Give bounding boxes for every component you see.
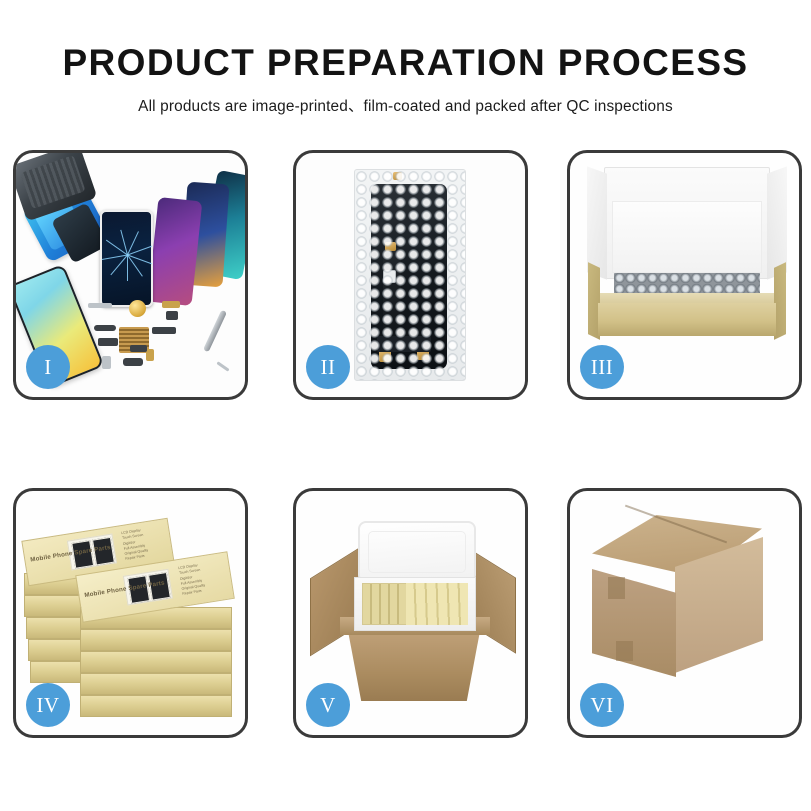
- phone-purple-icon: [148, 197, 203, 306]
- step-badge-2: II: [306, 345, 350, 389]
- part-connector-icon: [166, 311, 178, 320]
- process-step-4: Mobile Phone Spare Parts LCD Display Tou…: [13, 488, 248, 738]
- part-button-icon: [123, 358, 143, 366]
- stack-front-4: [80, 673, 232, 695]
- process-step-5: V: [293, 488, 528, 738]
- part-sim-tray-icon: [102, 356, 111, 369]
- part-camera-icon: [146, 349, 154, 361]
- stack-front-2: [80, 629, 232, 651]
- step-badge-6: VI: [580, 683, 624, 727]
- part-sensor-icon: [130, 345, 147, 352]
- step-badge-4: IV: [26, 683, 70, 727]
- tempered-glass-icon: [100, 210, 153, 307]
- header: PRODUCT PREPARATION PROCESS All products…: [0, 44, 811, 116]
- foam-sheet-icon: [612, 201, 762, 273]
- vibration-motor-icon: [129, 300, 146, 317]
- part-cable-c-icon: [152, 327, 176, 334]
- process-step-6: VI: [567, 488, 802, 738]
- carton-tape-upper-icon: [608, 577, 625, 599]
- carton-tape-lower-icon: [616, 641, 633, 661]
- part-flex-gold-icon: [162, 301, 180, 308]
- part-screw-icon: [216, 361, 229, 371]
- process-step-grid: I II: [13, 150, 803, 738]
- process-step-1: I: [13, 150, 248, 400]
- sealed-carton-front-icon: [592, 569, 676, 677]
- carton-body-icon: [348, 631, 480, 701]
- page-title: PRODUCT PREPARATION PROCESS: [0, 44, 811, 83]
- box-b-spec-list: LCD Display Touch Screen Digitizer Full …: [178, 562, 207, 597]
- stack-front-5: [80, 695, 232, 717]
- step-badge-5: V: [306, 683, 350, 727]
- product-preparation-infographic: PRODUCT PREPARATION PROCESS All products…: [0, 0, 811, 811]
- page-subtitle: All products are image-printed、film-coat…: [0, 94, 811, 116]
- box-a-spec-list: LCD Display Touch Screen Digitizer Full …: [121, 527, 150, 562]
- process-step-3: III: [567, 150, 802, 400]
- part-cable-b-icon: [98, 338, 118, 346]
- part-speaker-icon: [88, 303, 112, 308]
- step-badge-3: III: [580, 345, 624, 389]
- part-cable-a-icon: [94, 325, 116, 331]
- tweezers-icon: [203, 310, 227, 352]
- bubble-wrap-bag-icon: [354, 169, 466, 381]
- stack-front-3: [80, 651, 232, 673]
- styrofoam-lid-icon: [358, 521, 476, 583]
- process-step-2: II: [293, 150, 528, 400]
- packed-boxes-right-icon: [406, 583, 468, 625]
- step-badge-1: I: [26, 345, 70, 389]
- bubble-texture: [355, 170, 465, 380]
- kraft-box-front-icon: [598, 303, 776, 336]
